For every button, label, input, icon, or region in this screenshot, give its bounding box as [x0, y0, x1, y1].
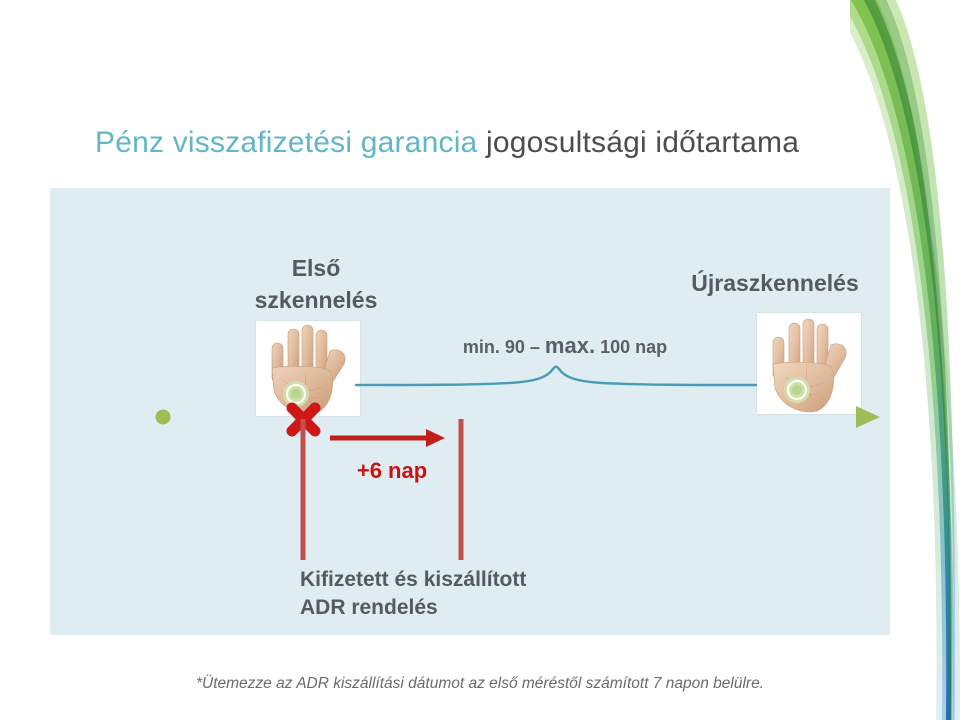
range-max-text: max. [545, 333, 595, 358]
range-min-text: min. 90 – [463, 337, 545, 357]
first-scan-label-line2: szkennelés [216, 284, 416, 316]
palm-scan-icon-rescan [757, 313, 861, 414]
first-scan-label: Első szkennelés [216, 252, 416, 316]
page-title-plain: jogosultsági időtartama [477, 126, 799, 159]
order-label: Kifizetett és kiszállított ADR rendelés [300, 566, 630, 622]
slide-canvas: Pénz visszafizetési garancia jogosultság… [0, 0, 960, 720]
palm-scan-icon-first [256, 321, 360, 416]
first-scan-label-line1: Első [216, 252, 416, 284]
order-label-line1: Kifizetett és kiszállított [300, 566, 630, 594]
footnote-text: *Ütemezze az ADR kiszállítási dátumot az… [60, 675, 900, 693]
rescan-label: Újraszkennelés [660, 268, 890, 298]
page-title-accent: Pénz visszafizetési garancia [95, 126, 477, 159]
range-label: min. 90 – max. 100 nap [400, 333, 730, 359]
page-title: Pénz visszafizetési garancia jogosultság… [95, 126, 885, 160]
order-label-line2: ADR rendelés [300, 594, 630, 622]
plus-days-label: +6 nap [312, 458, 472, 484]
range-unit-text: 100 nap [595, 337, 667, 357]
